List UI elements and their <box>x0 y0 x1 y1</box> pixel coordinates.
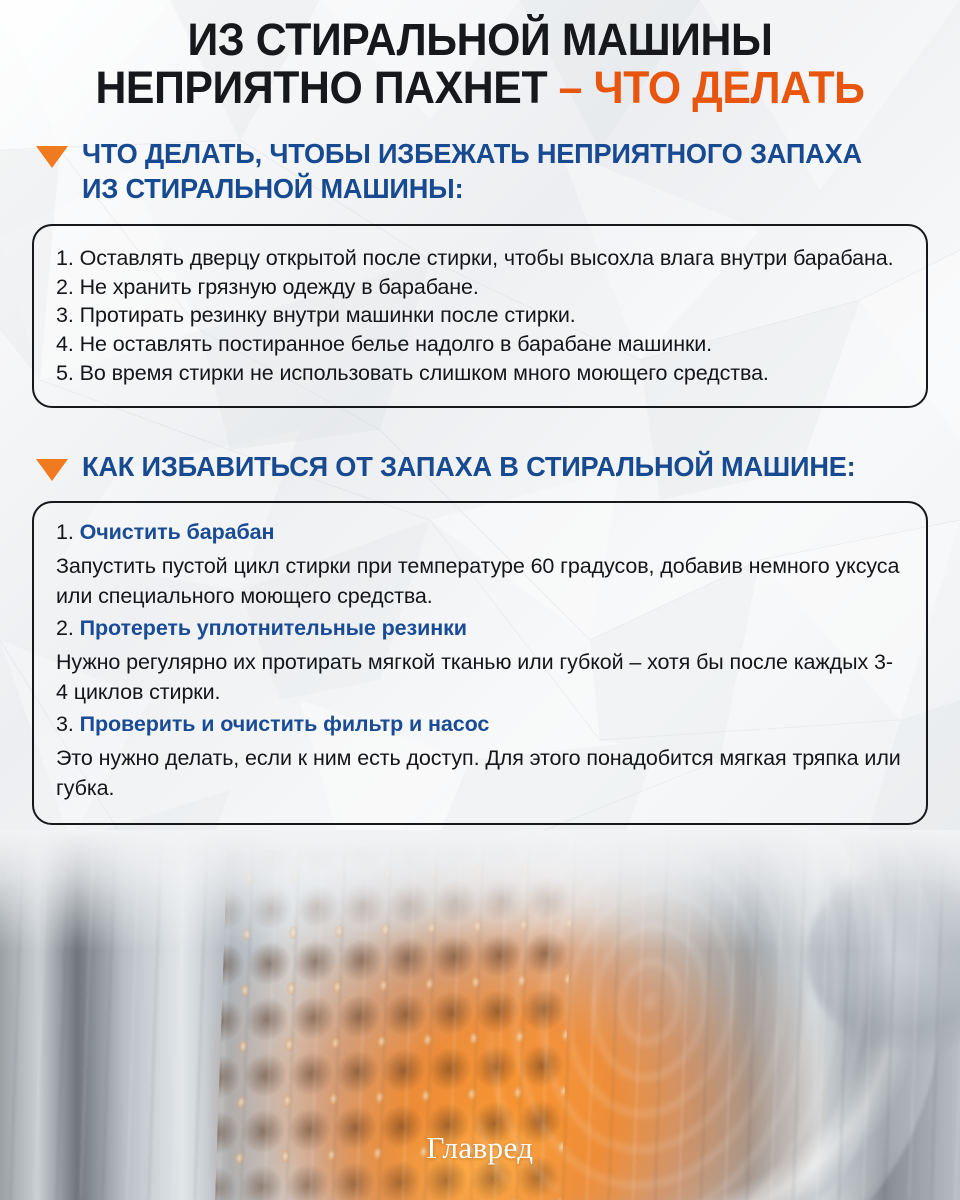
infographic-page: Главред ИЗ СТИРАЛЬНОЙ МАШИНЫ НЕПРИЯТНО П… <box>0 0 960 1200</box>
step-body: Нужно регулярно их протирать мягкой ткан… <box>56 647 904 707</box>
step-title: 1. Очистить барабан <box>56 517 904 547</box>
page-title: ИЗ СТИРАЛЬНОЙ МАШИНЫ НЕПРИЯТНО ПАХНЕТ – … <box>24 0 936 111</box>
title-line-2-plain: НЕПРИЯТНО ПАХНЕТ <box>95 62 558 113</box>
step-number: 3. <box>56 712 80 736</box>
list-item: 4. Не оставлять постиранное белье надолг… <box>56 330 904 359</box>
triangle-down-icon <box>36 146 68 168</box>
title-line-2-accent: – ЧТО ДЕЛАТЬ <box>559 62 865 113</box>
section-2-heading: КАК ИЗБАВИТЬСЯ ОТ ЗАПАХА В СТИРАЛЬНОЙ МА… <box>82 450 856 485</box>
prevention-list-card: 1. Оставлять дверцу открытой после стирк… <box>32 224 928 408</box>
section-1-header: ЧТО ДЕЛАТЬ, ЧТОБЫ ИЗБЕЖАТЬ НЕПРИЯТНОГО З… <box>0 137 960 206</box>
content-layer: ИЗ СТИРАЛЬНОЙ МАШИНЫ НЕПРИЯТНО ПАХНЕТ – … <box>0 0 960 1200</box>
section-2-header: КАК ИЗБАВИТЬСЯ ОТ ЗАПАХА В СТИРАЛЬНОЙ МА… <box>0 450 960 485</box>
removal-steps-card: 1. Очистить барабан Запустить пустой цик… <box>32 501 928 826</box>
list-item: 1. Оставлять дверцу открытой после стирк… <box>56 244 904 273</box>
section-prevention: ЧТО ДЕЛАТЬ, ЧТОБЫ ИЗБЕЖАТЬ НЕПРИЯТНОГО З… <box>0 137 960 407</box>
step-subtitle: Протереть уплотнительные резинки <box>80 616 467 640</box>
section-removal: КАК ИЗБАВИТЬСЯ ОТ ЗАПАХА В СТИРАЛЬНОЙ МА… <box>0 450 960 826</box>
step-body: Это нужно делать, если к ним есть доступ… <box>56 743 904 803</box>
step-number: 2. <box>56 616 80 640</box>
list-item: 3. Протирать резинку внутри машинки посл… <box>56 301 904 330</box>
triangle-down-icon <box>36 459 68 481</box>
step-title: 3. Проверить и очистить фильтр и насос <box>56 709 904 739</box>
step-title: 2. Протереть уплотнительные резинки <box>56 613 904 643</box>
list-item: 2. Не хранить грязную одежду в барабане. <box>56 273 904 302</box>
step-subtitle: Очистить барабан <box>80 520 275 544</box>
title-line-1: ИЗ СТИРАЛЬНОЙ МАШИНЫ <box>188 14 773 65</box>
step-subtitle: Проверить и очистить фильтр и насос <box>80 712 490 736</box>
step-body: Запустить пустой цикл стирки при темпера… <box>56 551 904 611</box>
list-item: 5. Во время стирки не использовать слишк… <box>56 359 904 388</box>
section-1-heading: ЧТО ДЕЛАТЬ, ЧТОБЫ ИЗБЕЖАТЬ НЕПРИЯТНОГО З… <box>82 137 905 206</box>
step-number: 1. <box>56 520 80 544</box>
